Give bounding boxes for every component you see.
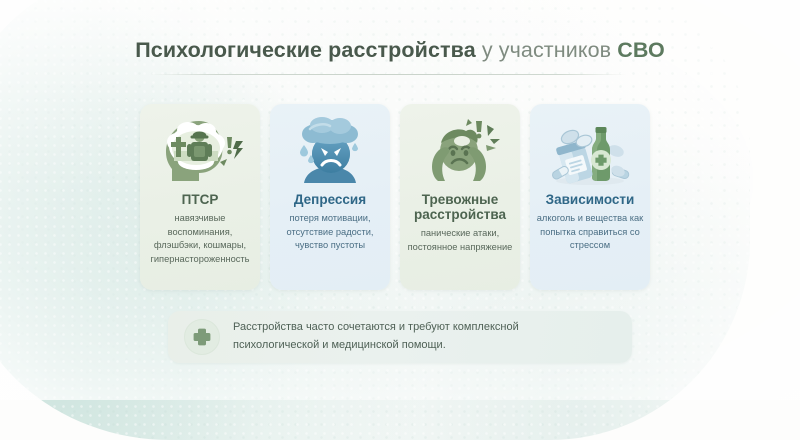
card-ptsd-desc: навязчивые воспоминания, флэшбэки, кошма… — [140, 212, 260, 267]
page-title-strong: Психологические расстройства — [135, 38, 476, 62]
page-title-accent: СВО — [617, 38, 665, 62]
card-ptsd-icon-wrap — [154, 112, 246, 190]
sad-face-rain-cloud-icon — [284, 115, 376, 187]
header: Психологические расстройства у участнико… — [0, 38, 800, 63]
disorder-card-list: ПТСР навязчивые воспоминания, флэшбэки, … — [140, 104, 660, 290]
page-title-mid: у участников — [476, 38, 618, 62]
card-depression[interactable]: Депрессия потеря мотивации, отсутствие р… — [270, 104, 390, 290]
card-addiction-title: Зависимости — [546, 192, 635, 207]
footer-note-line2: психологической и медицинской помощи. — [233, 337, 519, 355]
card-ptsd[interactable]: ПТСР навязчивые воспоминания, флэшбэки, … — [140, 104, 260, 290]
card-ptsd-title: ПТСР — [182, 192, 219, 207]
card-depression-icon-wrap — [284, 112, 376, 190]
card-depression-title: Депрессия — [294, 192, 366, 207]
title-divider — [150, 74, 626, 75]
card-anxiety-desc: панические атаки, постоянное напряжение — [400, 227, 520, 254]
card-anxiety-icon-wrap — [414, 112, 506, 190]
card-addiction-desc: алкоголь и вещества как попытка справить… — [530, 212, 650, 253]
card-addiction[interactable]: Зависимости алкоголь и вещества как попы… — [530, 104, 650, 290]
card-anxiety-title: Тревожные расстройства — [400, 192, 520, 222]
head-with-soldier-thought-icon — [154, 115, 246, 187]
card-addiction-icon-wrap — [544, 112, 636, 190]
card-depression-desc: потеря мотивации, отсутствие радости, чу… — [270, 212, 390, 253]
footer-note-line1: Расстройства часто сочетаются и требуют … — [233, 319, 519, 337]
footer-note-text: Расстройства часто сочетаются и требуют … — [233, 319, 519, 355]
medical-cross-icon — [184, 319, 220, 355]
page-title: Психологические расстройства у участнико… — [0, 38, 800, 63]
anxious-person-holding-head-icon — [414, 115, 506, 187]
infographic-stage: Психологические расстройства у участнико… — [0, 0, 800, 400]
bottle-and-pills-icon — [544, 115, 636, 187]
footer-note-banner: Расстройства часто сочетаются и требуют … — [168, 311, 632, 363]
medical-cross-glyph — [192, 327, 212, 347]
card-anxiety[interactable]: Тревожные расстройства панические атаки,… — [400, 104, 520, 290]
